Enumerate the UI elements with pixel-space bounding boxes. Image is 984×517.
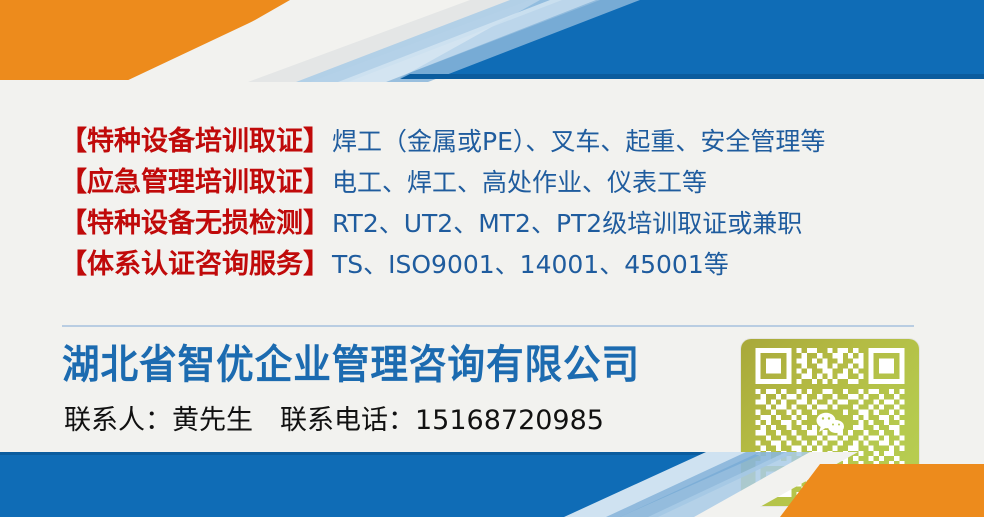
top-banner: [0, 0, 984, 82]
company-name: 湖北省智优企业管理咨询有限公司: [62, 343, 640, 387]
service-row: 【应急管理培训取证】 电工、焊工、高处作业、仪表工等: [60, 167, 940, 200]
service-list: 【特种设备培训取证】 焊工（金属或PE）、叉车、起重、安全管理等 【应急管理培训…: [60, 126, 940, 290]
service-value: RT2、UT2、MT2、PT2级培训取证或兼职: [332, 209, 802, 240]
service-tag: 【体系认证咨询服务】: [60, 249, 330, 282]
contact-line: 联系人：黄先生 联系电话：15168720985: [64, 405, 604, 437]
service-value: 电工、焊工、高处作业、仪表工等: [332, 168, 707, 199]
business-card-banner: 【特种设备培训取证】 焊工（金属或PE）、叉车、起重、安全管理等 【应急管理培训…: [0, 0, 984, 517]
service-value: 焊工（金属或PE）、叉车、起重、安全管理等: [332, 127, 825, 158]
service-row: 【特种设备无损检测】 RT2、UT2、MT2、PT2级培训取证或兼职: [60, 208, 940, 241]
service-tag: 【应急管理培训取证】: [60, 167, 330, 200]
service-value: TS、ISO9001、14001、45001等: [332, 250, 729, 281]
service-row: 【体系认证咨询服务】 TS、ISO9001、14001、45001等: [60, 249, 940, 282]
service-tag: 【特种设备培训取证】: [60, 126, 330, 159]
wechat-icon: [814, 411, 846, 435]
service-tag: 【特种设备无损检测】: [60, 208, 330, 241]
service-row: 【特种设备培训取证】 焊工（金属或PE）、叉车、起重、安全管理等: [60, 126, 940, 159]
section-divider: [62, 325, 914, 327]
bottom-banner: [0, 452, 984, 517]
